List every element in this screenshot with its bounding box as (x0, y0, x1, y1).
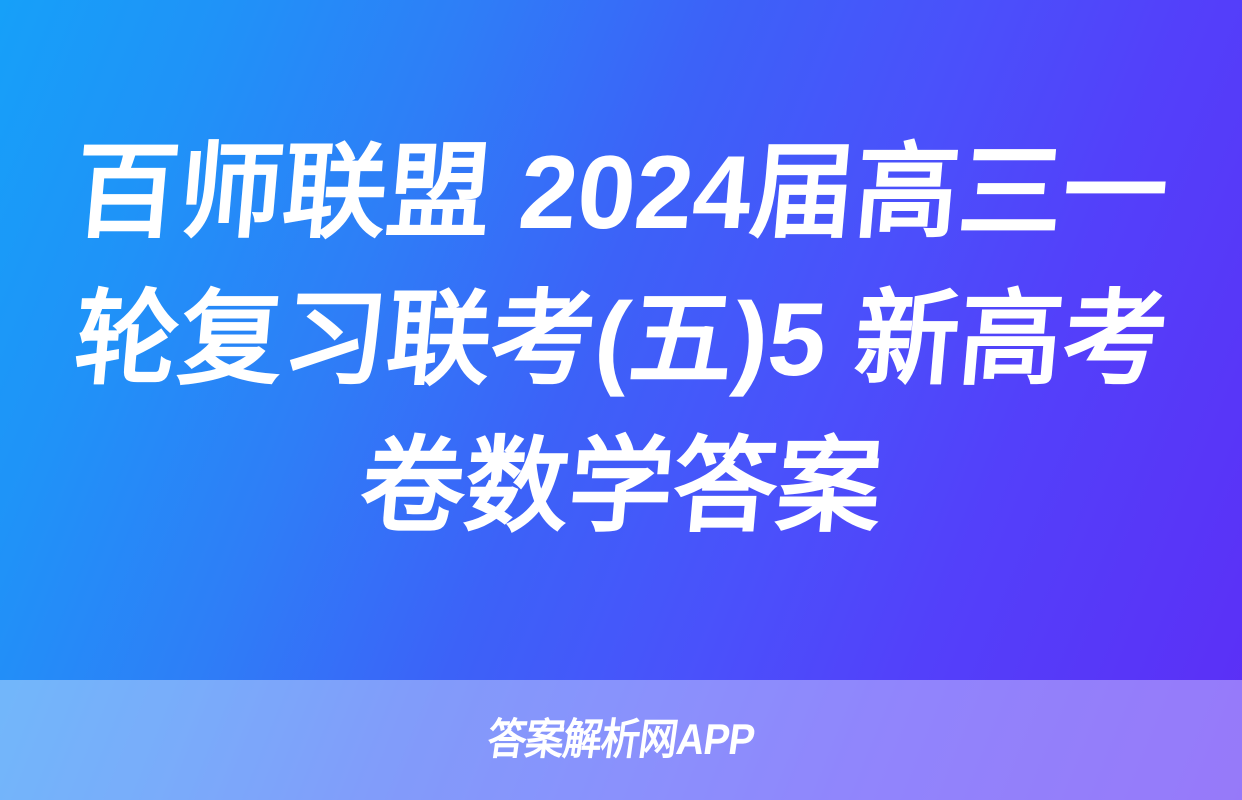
headline-block: 百师联盟 2024届高三一 轮复习联考(五)5 新高考 卷数学答案 (0, 0, 1242, 680)
title-line-2: 轮复习联考(五)5 新高考 (52, 267, 1191, 414)
watermark-label: 答案解析网APP (485, 719, 757, 762)
watermark-band: 答案解析网APP (0, 680, 1242, 800)
poster-canvas: 百师联盟 2024届高三一 轮复习联考(五)5 新高考 卷数学答案 答案解析网A… (0, 0, 1242, 800)
title-line-1: 百师联盟 2024届高三一 (52, 120, 1191, 267)
title-line-3: 卷数学答案 (52, 414, 1191, 561)
